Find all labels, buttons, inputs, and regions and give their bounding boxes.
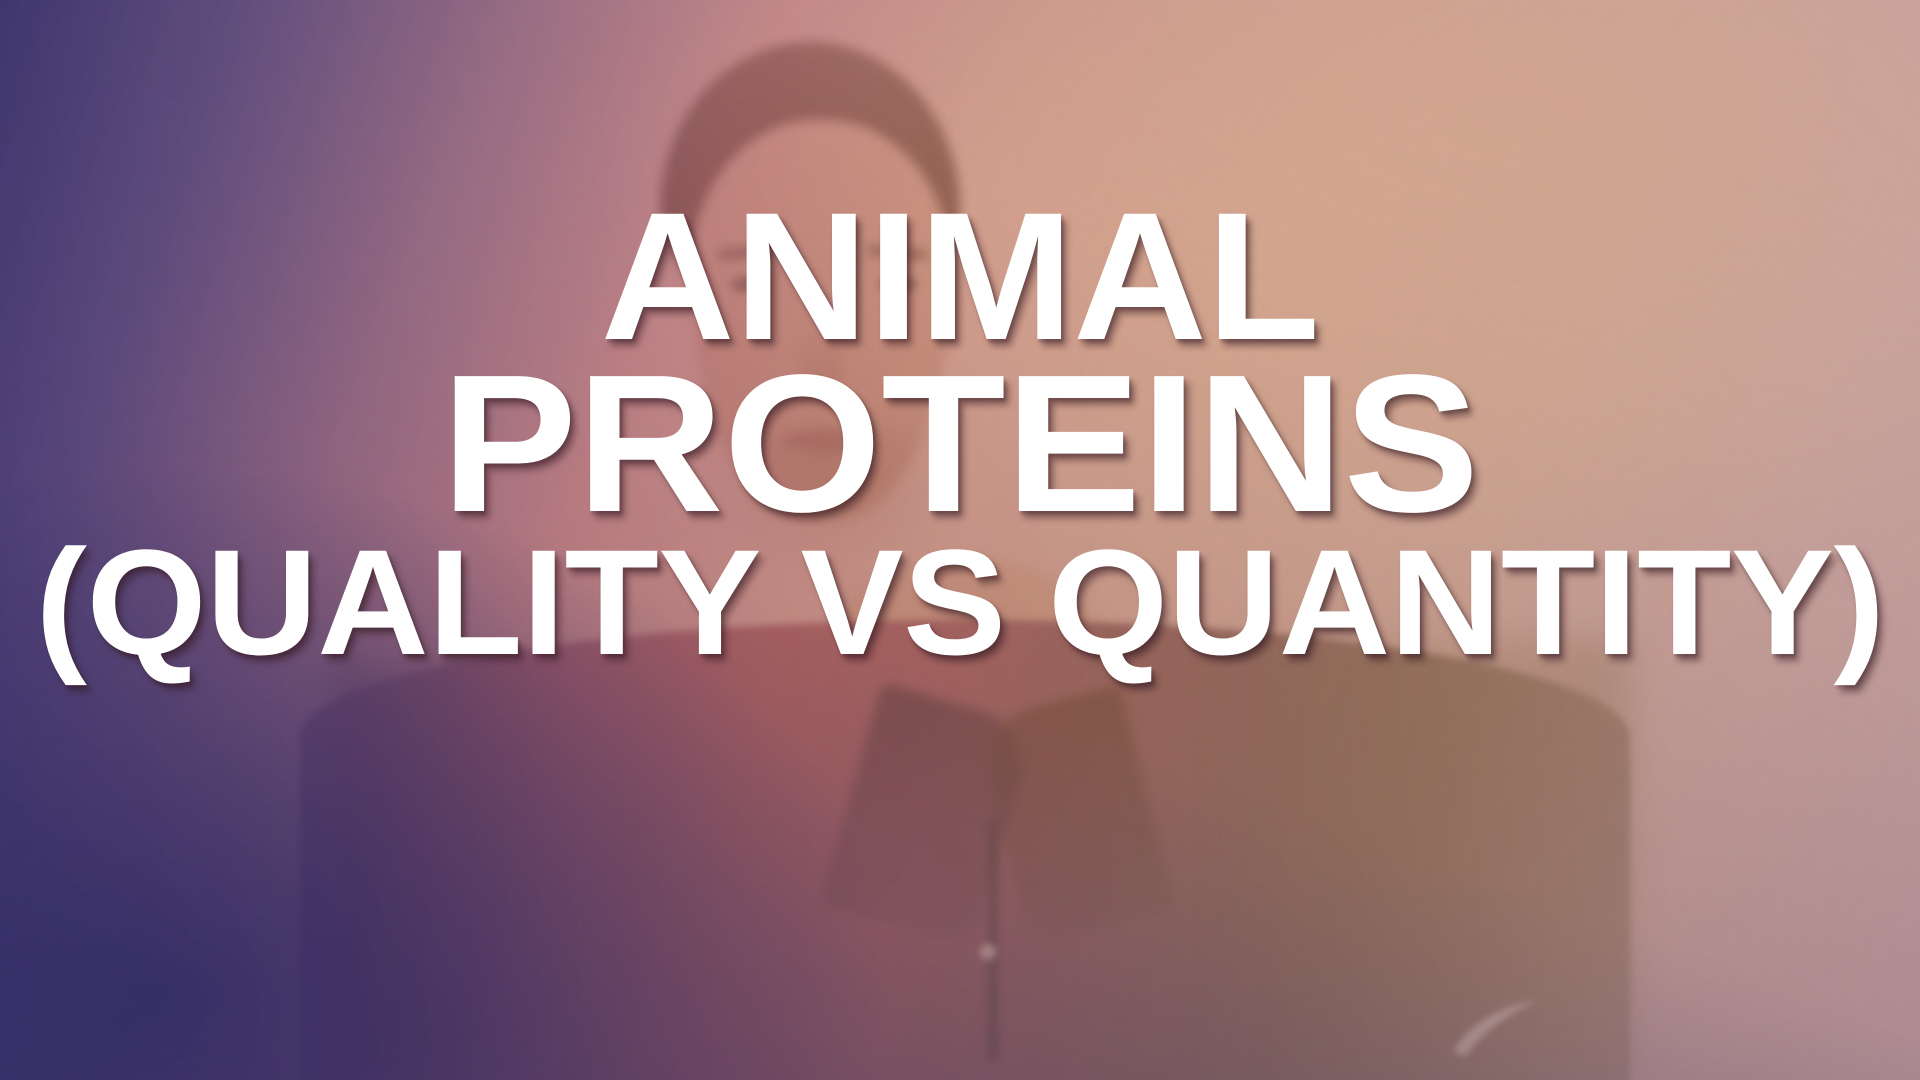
video-thumbnail: ANIMAL PROTEINS (QUALITY VS QUANTITY)	[0, 0, 1920, 1080]
title-line-1: ANIMAL	[0, 196, 1920, 356]
title-line-2: PROTEINS	[0, 358, 1920, 530]
thumbnail-title: ANIMAL PROTEINS (QUALITY VS QUANTITY)	[0, 196, 1920, 670]
title-line-3: (QUALITY VS QUANTITY)	[0, 535, 1920, 670]
